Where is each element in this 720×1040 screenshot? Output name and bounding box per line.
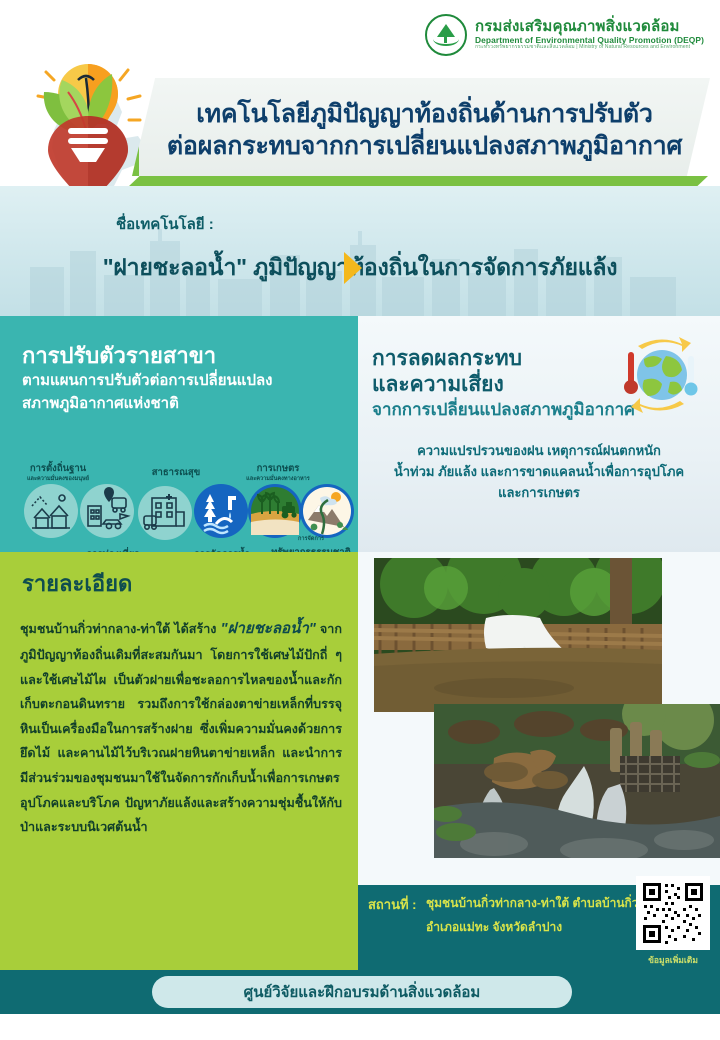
bottom-margin — [0, 1014, 720, 1040]
details-title: รายละเอียด — [22, 566, 132, 601]
impact-title-line3: จากการเปลี่ยนแปลงสภาพภูมิอากาศ — [372, 396, 635, 423]
photo-area — [358, 552, 720, 885]
adaptation-panel: การปรับตัวรายสาขา ตามแผนการปรับตัวต่อการ… — [0, 316, 358, 552]
green-divider-strip — [0, 952, 358, 970]
main-title-line2: ต่อผลกระทบจากการเปลี่ยนแปลงสภาพภูมิอากาศ — [139, 126, 710, 166]
technology-name-band: ชื่อเทคโนโลยี : "ฝายชะลอน้ำ" ภูมิปัญญาท้… — [0, 186, 720, 316]
settlement-icon[interactable] — [24, 484, 78, 538]
department-name-th: กรมส่งเสริมคุณภาพสิ่งแวดล้อม — [475, 19, 704, 36]
details-highlight: "ฝายชะลอน้ำ" — [221, 620, 316, 637]
sector-label-settlement: การตั้งถิ่นฐาน และความมั่นคงของมนุษย์ — [10, 458, 106, 483]
location-label: สถานที่ : — [368, 894, 417, 915]
qr-caption: ข้อมูลเพิ่มเติม — [636, 953, 710, 967]
adaptation-subtitle-line2: สภาพภูมิอากาศแห่งชาติ — [22, 393, 342, 416]
natural-resources-icon[interactable] — [300, 484, 354, 538]
main-title-ribbon: เทคโนโลยีภูมิปัญญาท้องถิ่นด้านการปรับตัว… — [132, 78, 710, 176]
check-dam-photo-wide — [374, 558, 662, 712]
sector-label-public-health: สาธารณสุข — [136, 462, 216, 480]
location-line2: อำเภอแม่ทะ จังหวัดลำปาง — [426, 918, 562, 937]
impact-description: ความแปรปรวนของฝน เหตุการณ์ฝนตกหนัก น้ำท่… — [364, 440, 714, 503]
hot-thermometer — [624, 352, 638, 394]
qr-code-icon[interactable] — [636, 876, 710, 950]
water-management-icon[interactable] — [194, 484, 248, 538]
footer-text: ศูนย์วิจัยและฝึกอบรมด้านสิ่งแวดล้อม — [244, 980, 481, 1004]
infographic-poster: กรมส่งเสริมคุณภาพสิ่งแวดล้อม Department … — [0, 0, 720, 1040]
adaptation-subtitle: ตามแผนการปรับตัวต่อการเปลี่ยนแปลง สภาพภู… — [22, 370, 342, 415]
adaptation-title: การปรับตัวรายสาขา — [22, 338, 216, 373]
impact-reduction-panel: การลดผลกระทบ และความเสี่ยง จากการเปลี่ยน… — [358, 316, 720, 552]
sector-icon-row: การตั้งถิ่นฐาน และความมั่นคงของมนุษย์ สา… — [8, 460, 356, 546]
check-dam-photo-close — [434, 704, 720, 858]
location-strip: สถานที่ : ชุมชนบ้านกิ่วท่ากลาง-ท่าใต้ ตำ… — [358, 885, 720, 970]
technology-label: ชื่อเทคโนโลยี : — [116, 212, 214, 236]
impact-description-line3: และการเกษตร — [364, 482, 714, 503]
impact-description-line1: ความแปรปรวนของฝน เหตุการณ์ฝนตกหนัก — [364, 440, 714, 461]
details-body-part1: ชุมชนบ้านกิ่วท่ากลาง-ท่าใต้ ได้สร้าง — [20, 622, 221, 636]
details-body: ชุมชนบ้านกิ่วท่ากลาง-ท่าใต้ ได้สร้าง "ฝา… — [20, 614, 342, 840]
details-panel: รายละเอียด ชุมชนบ้านกิ่วท่ากลาง-ท่าใต้ ไ… — [0, 552, 358, 952]
department-logo: กรมส่งเสริมคุณภาพสิ่งแวดล้อม Department … — [425, 14, 704, 56]
globe-thermometer-icon — [614, 334, 706, 416]
location-line1: ชุมชนบ้านกิ่วท่ากลาง-ท่าใต้ ตำบลบ้านกิ่ว — [426, 894, 639, 913]
poster-footer: ศูนย์วิจัยและฝึกอบรมด้านสิ่งแวดล้อม — [0, 970, 720, 1014]
deqp-seal-icon — [425, 14, 467, 56]
sector-label-agriculture: การเกษตร และความมั่นคงทางอาหาร — [230, 458, 326, 483]
impact-description-line2: น้ำท่วม ภัยแล้ง และการขาดแคลนน้ำเพื่อการ… — [364, 461, 714, 482]
poster-header: กรมส่งเสริมคุณภาพสิ่งแวดล้อม Department … — [0, 0, 720, 196]
adaptation-subtitle-line1: ตามแผนการปรับตัวต่อการเปลี่ยนแปลง — [22, 370, 342, 393]
footer-pill: ศูนย์วิจัยและฝึกอบรมด้านสิ่งแวดล้อม — [152, 976, 572, 1008]
tourism-icon[interactable] — [80, 484, 134, 538]
agriculture-icon[interactable] — [248, 484, 302, 538]
public-health-icon[interactable] — [138, 486, 192, 540]
ministry-name: กระทรวงทรัพยากรธรรมชาติและสิ่งแวดล้อม | … — [475, 45, 704, 51]
details-body-part2: จากภูมิปัญญาท้องถิ่นเดิมที่สะสมกันมา โดย… — [20, 622, 342, 834]
yellow-arrow-icon — [344, 252, 362, 284]
